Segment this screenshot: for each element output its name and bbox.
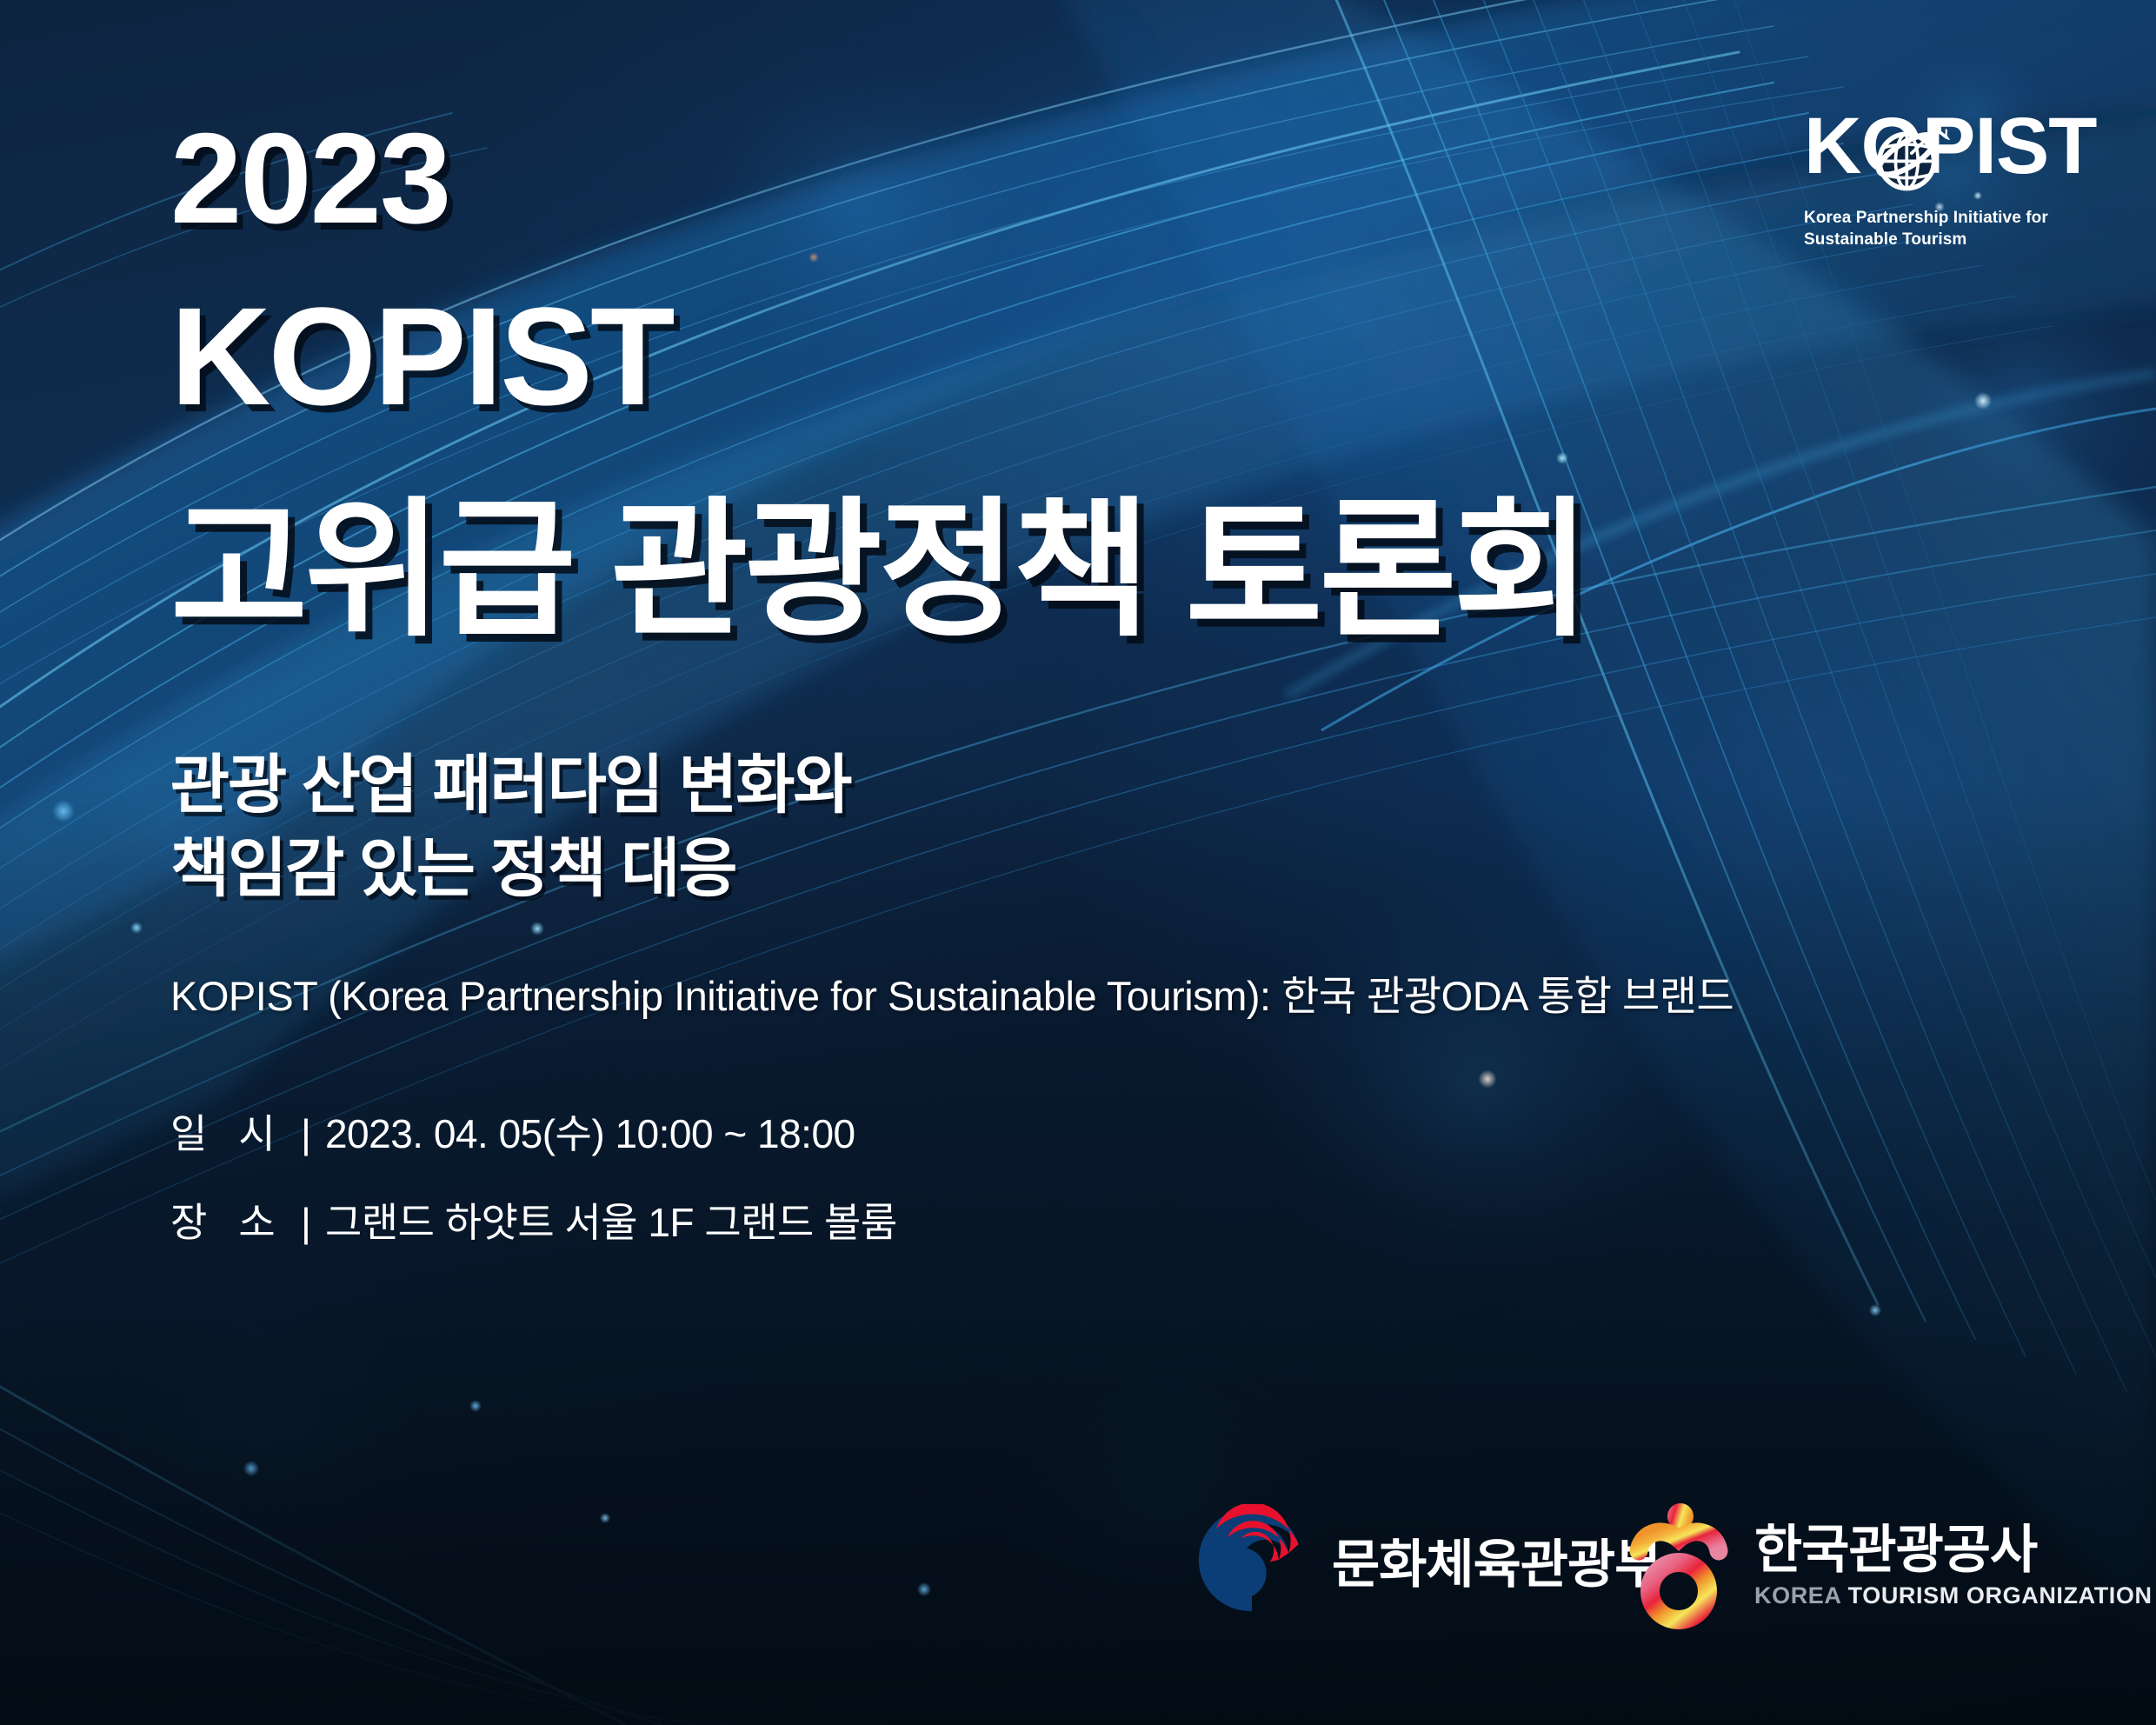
mcst-logo: 문화체육관광부	[1196, 1504, 1661, 1615]
detail-row-venue: 장소 | 그랜드 하얏트 서울 1F 그랜드 볼룸	[170, 1191, 897, 1249]
event-title-korean: 고위급 관광정책 토론회	[170, 491, 1587, 649]
poster-root: 2023 KOPIST 고위급 관광정책 토론회 관광 산업 패러다임 변화와 …	[0, 0, 2156, 1725]
brand-description: KOPIST (Korea Partnership Initiative for…	[170, 972, 1733, 1021]
mcst-name: 문화체육관광부	[1332, 1522, 1661, 1598]
kto-subtitle-first: KOREA	[1754, 1582, 1841, 1608]
detail-separator: |	[301, 1199, 311, 1246]
event-brand-name: KOPIST	[170, 287, 673, 426]
event-subtitle-line-2: 책임감 있는 정책 대응	[170, 827, 851, 910]
poster-content: 2023 KOPIST 고위급 관광정책 토론회 관광 산업 패러다임 변화와 …	[0, 0, 2156, 1725]
kto-figure-icon	[1624, 1501, 1733, 1631]
kopist-wordmark-text: KOPIST	[1804, 104, 2096, 189]
kto-subtitle-rest: TOURISM ORGANIZATION	[1841, 1582, 2153, 1608]
kto-name: 한국관광공사	[1754, 1522, 2153, 1578]
detail-value-datetime: 2023. 04. 05(수) 10:00 ~ 18:00	[325, 1102, 855, 1160]
event-subtitle-line-1: 관광 산업 패러다임 변화와	[170, 743, 851, 827]
kto-subtitle: KOREA TOURISM ORGANIZATION	[1754, 1582, 2153, 1609]
kopist-wordmark: KOPIST	[1804, 104, 2099, 198]
taegeuk-emblem-icon	[1196, 1504, 1308, 1615]
detail-separator: |	[301, 1110, 311, 1157]
event-year: 2023	[170, 115, 449, 243]
detail-label-venue: 장소	[170, 1191, 301, 1249]
kopist-tagline-line-2: Sustainable Tourism	[1804, 229, 2099, 250]
detail-label-datetime: 일시	[170, 1102, 301, 1160]
detail-row-datetime: 일시 | 2023. 04. 05(수) 10:00 ~ 18:00	[170, 1102, 897, 1160]
detail-value-venue: 그랜드 하얏트 서울 1F 그랜드 볼룸	[325, 1191, 897, 1249]
footer-logos: 문화체육관광부	[0, 1501, 2156, 1622]
kto-text: 한국관광공사 KOREA TOURISM ORGANIZATION	[1754, 1522, 2153, 1610]
kopist-tagline-line-1: Korea Partnership Initiative for	[1804, 207, 2099, 229]
event-subtitle: 관광 산업 패러다임 변화와 책임감 있는 정책 대응	[170, 743, 851, 910]
kto-logo: 한국관광공사 KOREA TOURISM ORGANIZATION	[1624, 1501, 2153, 1631]
event-details: 일시 | 2023. 04. 05(수) 10:00 ~ 18:00 장소 | …	[170, 1102, 897, 1280]
kopist-logo: KOPIST	[1804, 104, 2099, 250]
kopist-tagline: Korea Partnership Initiative for Sustain…	[1804, 207, 2099, 250]
globe-airplane-icon	[1870, 115, 1950, 195]
